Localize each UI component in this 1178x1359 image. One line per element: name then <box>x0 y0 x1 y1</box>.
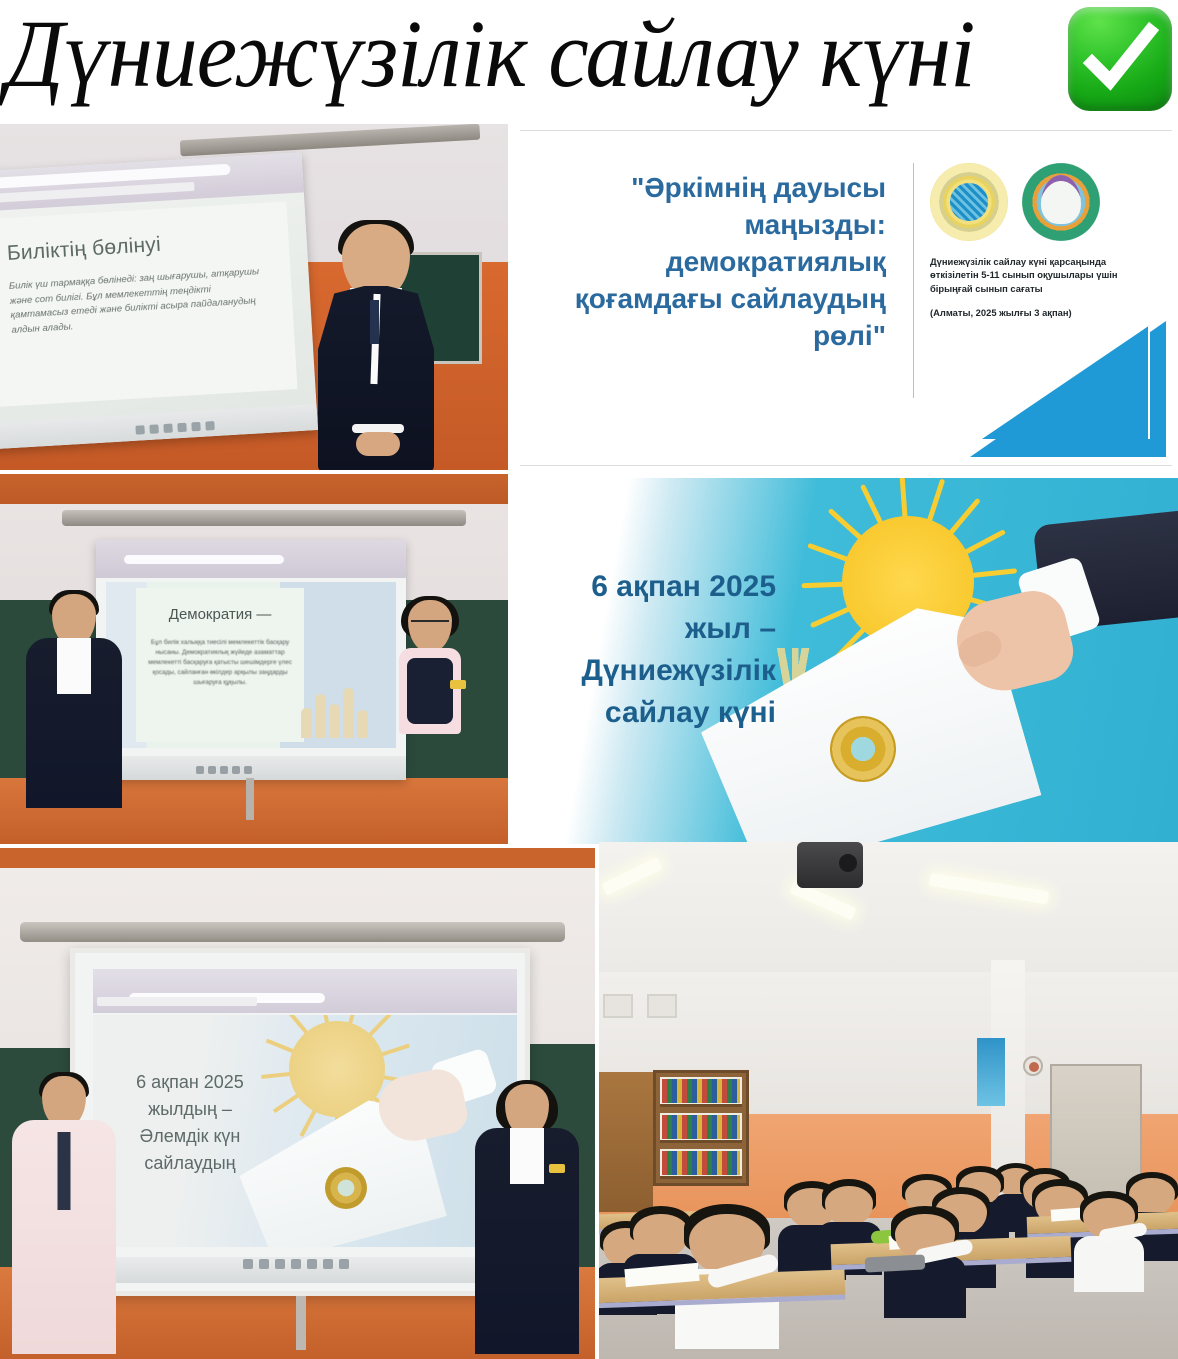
hand-shape <box>357 710 368 738</box>
taskbar-icon <box>232 766 240 774</box>
whiteboard-stand <box>296 1296 306 1350</box>
browser-url-bar <box>124 555 284 564</box>
white-check-mark-icon <box>1068 7 1172 111</box>
taskbar-icon <box>323 1259 333 1269</box>
taskbar-icon <box>275 1259 285 1269</box>
raised-hands-graphic <box>299 600 392 738</box>
wall-orange-top <box>0 848 595 868</box>
school-badge <box>549 1164 565 1173</box>
student-presenter <box>316 224 436 470</box>
interactive-whiteboard: Биліктің бөлінуі Билік үш тармаққа бөлін… <box>0 152 318 449</box>
wall-vent <box>647 994 677 1018</box>
necktie <box>58 1132 71 1210</box>
school-badge <box>450 680 466 689</box>
pencil-case <box>865 1254 926 1272</box>
hand-shape <box>343 688 354 738</box>
shelf-row <box>660 1149 742 1179</box>
school-vest <box>407 658 453 724</box>
head <box>633 1214 689 1258</box>
interactive-whiteboard: 6 ақпан 2025 жылдың – Әлемдік күн сайлау… <box>70 948 530 1296</box>
books <box>662 1151 740 1175</box>
taskbar-icons <box>196 766 252 774</box>
student <box>1083 1198 1135 1288</box>
windows-taskbar <box>96 756 406 780</box>
presentation-slide: Биліктің бөлінуі Билік үш тармаққа бөлін… <box>0 201 297 406</box>
taskbar-icon <box>259 1259 269 1269</box>
almaty-snow-leopard-emblem-icon <box>1022 163 1100 241</box>
corner-triangle-front <box>982 325 1150 439</box>
page-title: Дүниежүзілік сайлау күні <box>6 0 975 112</box>
hand-shape <box>315 694 326 738</box>
election-commission-emblem-icon <box>930 163 1008 241</box>
photo-two-students-world-day-slide: 6 ақпан 2025 жылдың – Әлемдік күн сайлау… <box>0 848 595 1359</box>
taskbar-icon <box>220 766 228 774</box>
ceiling-projector <box>797 842 863 888</box>
slide-world-election-day: 6 ақпан 2025 жыл – Дүниежүзілік сайлау к… <box>512 478 1178 844</box>
taskbar-icon <box>205 421 215 431</box>
taskbar-icon <box>177 423 187 433</box>
slide-frame: "Әркімнің дауысы маңызды: демократиялық … <box>520 130 1172 466</box>
student-male <box>12 1076 116 1354</box>
interactive-whiteboard: Демократия — Бұл билік халыққа тиесілі м… <box>96 540 406 780</box>
wall-clock-icon <box>1023 1056 1043 1076</box>
taskbar-icon <box>163 424 173 434</box>
student-female <box>475 1084 579 1354</box>
clasped-hands <box>356 432 400 456</box>
eyeglasses-icon <box>411 620 449 628</box>
whiteboard-stand <box>246 778 254 820</box>
ceiling <box>599 842 1178 972</box>
presentation-slide: Демократия — Бұл билік халыққа тиесілі м… <box>106 582 396 748</box>
slide-subtitle: Дүниежүзілік сайлау күні қарсаңында өткі… <box>930 255 1145 295</box>
slide-title: Биліктің бөлінуі <box>6 233 161 266</box>
head <box>825 1186 873 1226</box>
necktie <box>370 300 379 344</box>
slide-presentation-title: "Әркімнің дауысы маңызды: демократиялық … <box>512 124 1178 474</box>
browser-tab-row <box>97 997 257 1006</box>
taskbar-icon <box>208 766 216 774</box>
taskbar-icon <box>196 766 204 774</box>
hand-shape <box>301 708 312 738</box>
kazakhstan-state-emblem-icon <box>325 1167 367 1209</box>
shelf-row <box>660 1113 742 1143</box>
taskbar-icons <box>135 421 214 435</box>
taskbar-icon <box>135 425 145 435</box>
slide-title: "Әркімнің дауысы маңызды: демократиялық … <box>556 169 886 354</box>
taskbar-icon <box>243 1259 253 1269</box>
photo-classroom-students-working <box>599 842 1178 1359</box>
taskbar-icon <box>244 766 252 774</box>
taskbar-icon <box>149 424 159 434</box>
white-collar <box>510 1128 544 1184</box>
wall-poster <box>977 1038 1005 1106</box>
slide-text-card: Демократия — Бұл билік халыққа тиесілі м… <box>136 588 304 742</box>
slide-title: 6 ақпан 2025 жылдың – Әлемдік күн сайлау… <box>115 1069 265 1177</box>
photo-collage: Биліктің бөлінуі Билік үш тармаққа бөлін… <box>0 124 1178 1359</box>
photo-student-presenting-separation-of-powers: Биліктің бөлінуі Билік үш тармаққа бөлін… <box>0 124 508 470</box>
taskbar-icons <box>243 1259 349 1269</box>
projector-screen-rail <box>62 510 466 526</box>
browser-chrome <box>93 969 517 1013</box>
windows-taskbar <box>93 1257 517 1283</box>
student-male <box>26 594 122 808</box>
photo-two-students-democracy-slide: Демократия — Бұл билік халыққа тиесілі м… <box>0 474 508 844</box>
projector-screen-rail <box>20 922 565 942</box>
student-female <box>380 600 480 808</box>
slide-title: 6 ақпан 2025 жыл – Дүниежүзілік сайлау к… <box>518 566 776 734</box>
shelf-row <box>660 1077 742 1107</box>
hand-shape <box>329 704 340 738</box>
wooden-cabinet <box>599 1072 653 1212</box>
uniform <box>1074 1236 1145 1292</box>
wall-orange-top <box>0 474 508 504</box>
books <box>662 1079 740 1103</box>
vertical-divider <box>913 163 914 398</box>
slide-place-date: (Алматы, 2025 жылғы 3 ақпан) <box>930 306 1145 319</box>
taskbar-icon <box>291 1259 301 1269</box>
bookshelf <box>653 1070 749 1186</box>
slide-canvas: 6 ақпан 2025 жыл – Дүниежүзілік сайлау к… <box>512 478 1178 844</box>
slide-title: Демократия — <box>136 606 304 623</box>
white-shirt <box>57 638 91 694</box>
books <box>662 1115 740 1139</box>
slide-subtitle-block: Дүниежүзілік сайлау күні қарсаңында өткі… <box>930 255 1145 331</box>
presentation-slide: 6 ақпан 2025 жылдың – Әлемдік күн сайлау… <box>93 1015 517 1247</box>
slide-body: Бұл билік халыққа тиесілі мемлекеттік ба… <box>146 638 294 688</box>
emblem-group <box>930 163 1100 241</box>
taskbar-icon <box>307 1259 317 1269</box>
browser-chrome <box>96 540 406 578</box>
page-header: Дүниежүзілік сайлау күні <box>0 0 1178 124</box>
slide-body: Билік үш тармаққа бөлінеді: заң шығарушы… <box>9 265 268 338</box>
taskbar-icon <box>339 1259 349 1269</box>
wall-vent <box>603 994 633 1018</box>
projector-lens <box>839 854 857 872</box>
taskbar-icon <box>191 422 201 432</box>
